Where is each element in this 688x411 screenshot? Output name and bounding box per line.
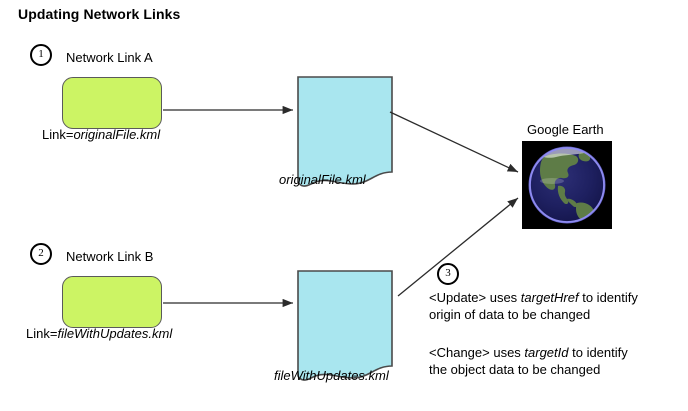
step-marker-2: 2	[30, 243, 52, 265]
arrow-document-original-to-earth	[390, 112, 518, 172]
network-link-b-box[interactable]	[62, 276, 162, 328]
network-link-b-caption-prefix: Link=	[26, 326, 57, 341]
network-link-a-caption-prefix: Link=	[42, 127, 73, 142]
note-update-text-a: <Update> uses	[429, 290, 521, 305]
note-change-target-id: targetId	[524, 345, 568, 360]
network-link-a-box[interactable]	[62, 77, 162, 129]
note-change-line-1: <Change> uses targetId to identify	[429, 344, 628, 361]
step-marker-3: 3	[437, 263, 459, 285]
google-earth-label: Google Earth	[527, 122, 604, 137]
document-shape-icon	[297, 270, 393, 382]
note-update-line-2: origin of data to be changed	[429, 306, 590, 323]
document-file-with-updates-caption: fileWithUpdates.kml	[274, 368, 389, 383]
arrow-document-updates-to-earth	[398, 198, 518, 296]
network-link-a-caption: Link=originalFile.kml	[42, 127, 160, 142]
note-change-text-a: <Change> uses	[429, 345, 524, 360]
note-change-line-2: the object data to be changed	[429, 361, 600, 378]
network-link-b-caption: Link=fileWithUpdates.kml	[26, 326, 172, 341]
note-update-target-href: targetHref	[521, 290, 579, 305]
globe-icon	[522, 141, 612, 229]
diagram-canvas: Updating Network Links 1 Network Link A …	[0, 0, 688, 411]
network-link-b-caption-value: fileWithUpdates.kml	[57, 326, 172, 341]
network-link-a-caption-value: originalFile.kml	[73, 127, 160, 142]
page-title: Updating Network Links	[18, 6, 180, 22]
google-earth-thumbnail[interactable]	[522, 141, 612, 229]
step-marker-1: 1	[30, 44, 52, 66]
document-file-with-updates[interactable]	[297, 270, 393, 382]
network-link-a-title: Network Link A	[66, 50, 153, 65]
note-update-text-b: to identify	[579, 290, 638, 305]
document-original-file-caption: originalFile.kml	[279, 172, 366, 187]
note-change-text-b: to identify	[569, 345, 628, 360]
note-update-line-1: <Update> uses targetHref to identify	[429, 289, 638, 306]
network-link-b-title: Network Link B	[66, 249, 153, 264]
